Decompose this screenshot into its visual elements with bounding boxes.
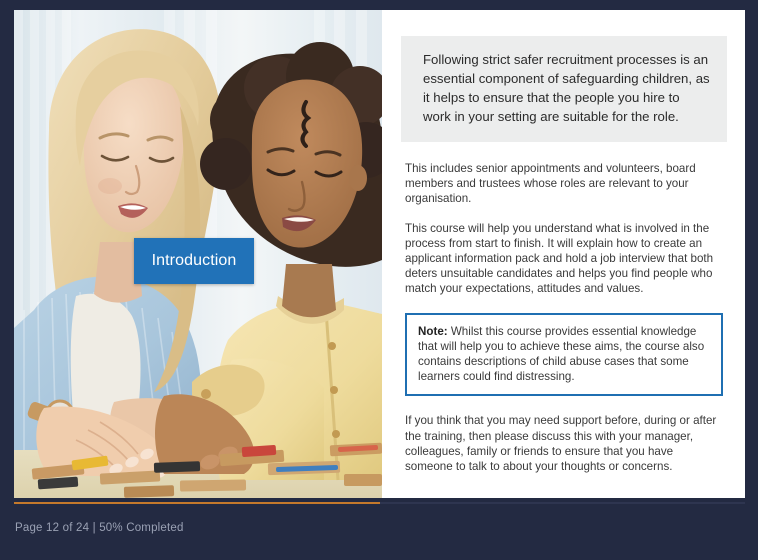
body-paragraph-3: If you think that you may need support b… [401,413,727,474]
body-paragraph-1: This includes senior appointments and vo… [401,161,727,207]
highlight-callout: Following strict safer recruitment proce… [401,36,727,142]
progress-bar-fill [14,502,380,504]
elearning-slide-player: Introduction Following strict safer recr… [0,0,758,560]
callout-text: Following strict safer recruitment proce… [423,50,711,126]
slide-title-badge: Introduction [134,238,254,284]
progress-status-text: Page 12 of 24 | 50% Completed [15,522,184,534]
progress-bar-track [14,502,745,504]
slide-text-panel: Following strict safer recruitment proce… [382,10,745,498]
player-footer: Page 12 of 24 | 50% Completed ‹ Prev Nex… [0,506,758,560]
note-text: Note: Whilst this course provides essent… [418,324,710,385]
slide-photo: Introduction [14,10,382,498]
note-body: Whilst this course provides essential kn… [418,325,704,384]
note-callout: Note: Whilst this course provides essent… [405,313,723,397]
slide-content-area: Introduction Following strict safer recr… [14,10,745,498]
note-label: Note: [418,325,448,338]
body-paragraph-2: This course will help you understand wha… [401,221,727,297]
slide-title-text: Introduction [152,252,237,270]
